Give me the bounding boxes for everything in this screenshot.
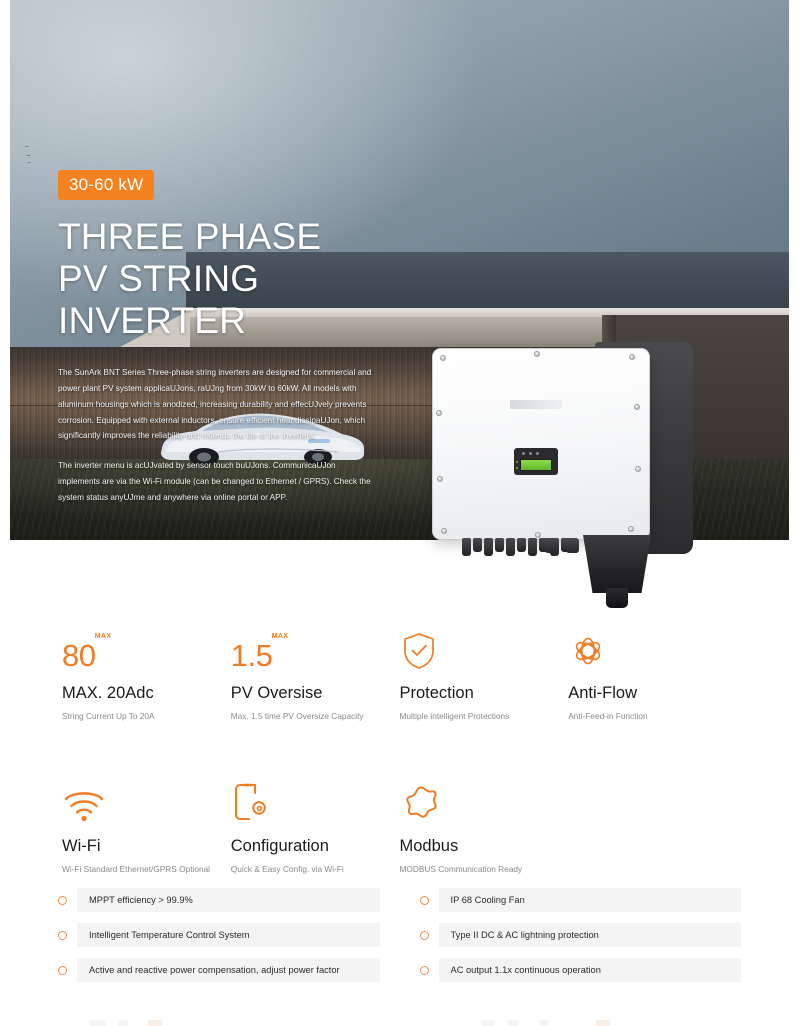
feature-number: 80 [62,638,95,673]
peek-fragment [508,1020,518,1026]
feature-item-pv-oversize: 1.5 MAX PV Oversise Max. 1.5 time PV Ove… [231,627,400,722]
aux-port-group [545,538,579,553]
inverter-front-cover [432,348,650,540]
peek-fragment [596,1020,610,1026]
dc-connector [506,538,515,556]
screw-icon [440,355,446,361]
status-led [522,452,525,455]
dc-connector [517,538,526,552]
birds-icon [24,143,44,167]
hero-title-line-2: PV STRING INVERTER [58,258,259,341]
feature-item-anti-flow: Anti-Flow Anti-Feed-in Function [568,627,737,722]
features-section: 80 MAX MAX. 20Adc String Current Up To 2… [0,627,799,875]
bullet-circle-icon [58,966,67,975]
feature-superscript: MAX [95,633,112,640]
lcd-screen [520,459,552,471]
bullet-text: Type II DC & AC lightning protection [439,923,742,947]
feature-superscript: MAX [272,633,289,640]
feature-item-protection: Protection Multiple intelligent Protecti… [400,627,569,722]
hero-paragraph-2: The inverter menu is acUJvated by sensor… [58,458,376,505]
peek-fragment [482,1020,494,1026]
screw-icon [635,466,641,472]
dc-connector [495,538,504,552]
brand-logo [510,400,562,409]
power-range-badge: 30-60 kW [58,170,154,200]
aux-port [545,538,558,553]
dc-connector [462,538,471,556]
bullet-text: AC output 1.1x continuous operation [439,958,742,982]
status-led-group [522,452,539,455]
bullet-circle-icon [58,931,67,940]
bullet-circle-icon [420,896,429,905]
bullet-text: Active and reactive power compensation, … [77,958,380,982]
list-item: MPPT efficiency > 99.9% [58,888,380,912]
peek-fragment [148,1020,162,1026]
bullet-text: Intelligent Temperature Control System [77,923,380,947]
ac-cable-gland [606,588,628,608]
hero-title-line-1: THREE PHASE [58,216,321,257]
peek-fragment [90,1020,106,1026]
number-80-max-icon: 80 MAX [62,627,217,671]
wifi-icon [62,786,106,824]
screw-icon [534,351,540,357]
ac-junction-box [583,535,651,593]
feature-title: PV Oversise [231,684,386,703]
hero-section: 30-60 kW THREE PHASE PV STRING INVERTER … [0,0,799,627]
feature-item-configuration: Configuration Quick & Easy Config. via W… [231,780,400,875]
touch-button-up[interactable] [516,461,518,463]
feature-item-wifi: Wi-Fi Wi-Fi Standard Ethernet/GPRS Optio… [62,780,231,875]
dc-connector [484,538,493,556]
list-item: Intelligent Temperature Control System [58,923,380,947]
feature-title: Configuration [231,837,386,856]
aux-port [566,538,579,553]
feature-title: Wi-Fi [62,837,217,856]
feature-title: Protection [400,684,555,703]
puzzle-blob-icon [400,784,442,824]
peek-fragment [118,1020,128,1026]
screw-icon [634,404,640,410]
specs-bullet-list: MPPT efficiency > 99.9% IP 68 Cooling Fa… [0,888,799,982]
touch-button-down[interactable] [516,467,518,469]
feature-description: Max. 1.5 time PV Oversize Capacity [231,711,386,722]
inverter-display-panel [514,448,558,475]
screw-icon [629,354,635,360]
screw-icon [436,410,442,416]
bullet-text: MPPT efficiency > 99.9% [77,888,380,912]
hero-paragraph-1: The SunArk BNT Series Three-phase string… [58,365,376,444]
peek-fragment [540,1020,548,1026]
feature-description: Wi-Fi Standard Ethernet/GPRS Optional [62,864,217,875]
feature-description: Multiple intelligent Protections [400,711,555,722]
bullet-text: IP 68 Cooling Fan [439,888,742,912]
feature-title: MAX. 20Adc [62,684,217,703]
bullet-circle-icon [420,966,429,975]
atom-icon [568,631,608,671]
bullet-circle-icon [420,931,429,940]
feature-item-max-20adc: 80 MAX MAX. 20Adc String Current Up To 2… [62,627,231,722]
screw-icon [441,528,447,534]
list-item: Active and reactive power compensation, … [58,958,380,982]
screw-icon [628,526,634,532]
hero-text-block: 30-60 kW THREE PHASE PV STRING INVERTER … [58,170,418,505]
number-1point5-max-icon: 1.5 MAX [231,627,386,671]
list-item: Type II DC & AC lightning protection [420,923,742,947]
feature-item-modbus: Modbus MODBUS Communication Ready [400,780,569,875]
shield-check-icon [400,631,438,671]
list-item: IP 68 Cooling Fan [420,888,742,912]
inverter-product-image [420,330,710,620]
status-led [536,452,539,455]
status-led [529,452,532,455]
feature-description: Quick & Easy Config. via Wi-Fi [231,864,386,875]
feature-description: MODBUS Communication Ready [400,864,555,875]
features-grid: 80 MAX MAX. 20Adc String Current Up To 2… [62,627,737,875]
feature-description: String Current Up To 20A [62,711,217,722]
screw-icon [437,476,443,482]
bullet-circle-icon [58,896,67,905]
next-section-peek [0,1008,799,1024]
feature-title: Modbus [400,837,555,856]
feature-number: 1.5 [231,638,273,673]
feature-description: Anti-Feed-in Function [568,711,723,722]
dc-connector [473,538,482,552]
page-title: THREE PHASE PV STRING INVERTER [58,216,418,341]
dc-connector [528,538,537,556]
phone-gear-icon [231,782,271,824]
list-item: AC output 1.1x continuous operation [420,958,742,982]
feature-title: Anti-Flow [568,684,723,703]
